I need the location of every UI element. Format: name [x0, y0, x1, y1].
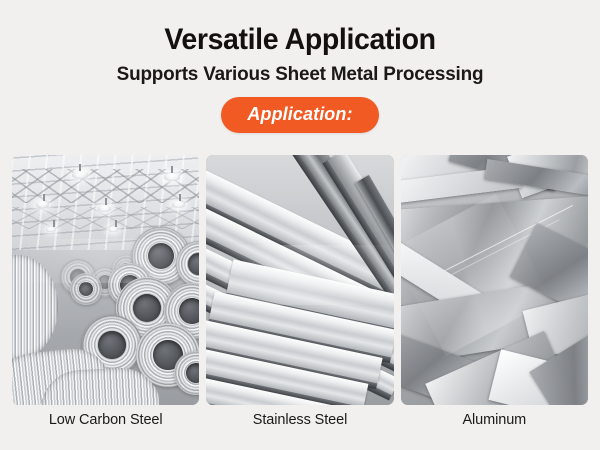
versatile-application-banner: Versatile Application Supports Various S…: [0, 0, 600, 450]
aluminum-sheet-icon: [401, 155, 588, 405]
page-subtitle: Supports Various Sheet Metal Processing: [9, 63, 591, 86]
application-panels: [12, 155, 588, 405]
banner-header: Versatile Application Supports Various S…: [0, 0, 600, 133]
steel-bar-stack-icon: [206, 155, 393, 405]
page-title: Versatile Application: [15, 24, 585, 56]
caption-low-carbon-steel: Low Carbon Steel: [12, 412, 199, 428]
panel-stainless-steel: [206, 155, 393, 405]
badge-row: Application:: [0, 97, 600, 133]
panel-captions: Low Carbon Steel Stainless Steel Aluminu…: [12, 412, 588, 428]
caption-aluminum: Aluminum: [401, 412, 588, 428]
panel-low-carbon-steel: [12, 155, 199, 405]
steel-coil-icon: [12, 155, 199, 405]
status-badge: Application:: [221, 97, 378, 133]
caption-stainless-steel: Stainless Steel: [206, 412, 393, 428]
panel-aluminum: [401, 155, 588, 405]
